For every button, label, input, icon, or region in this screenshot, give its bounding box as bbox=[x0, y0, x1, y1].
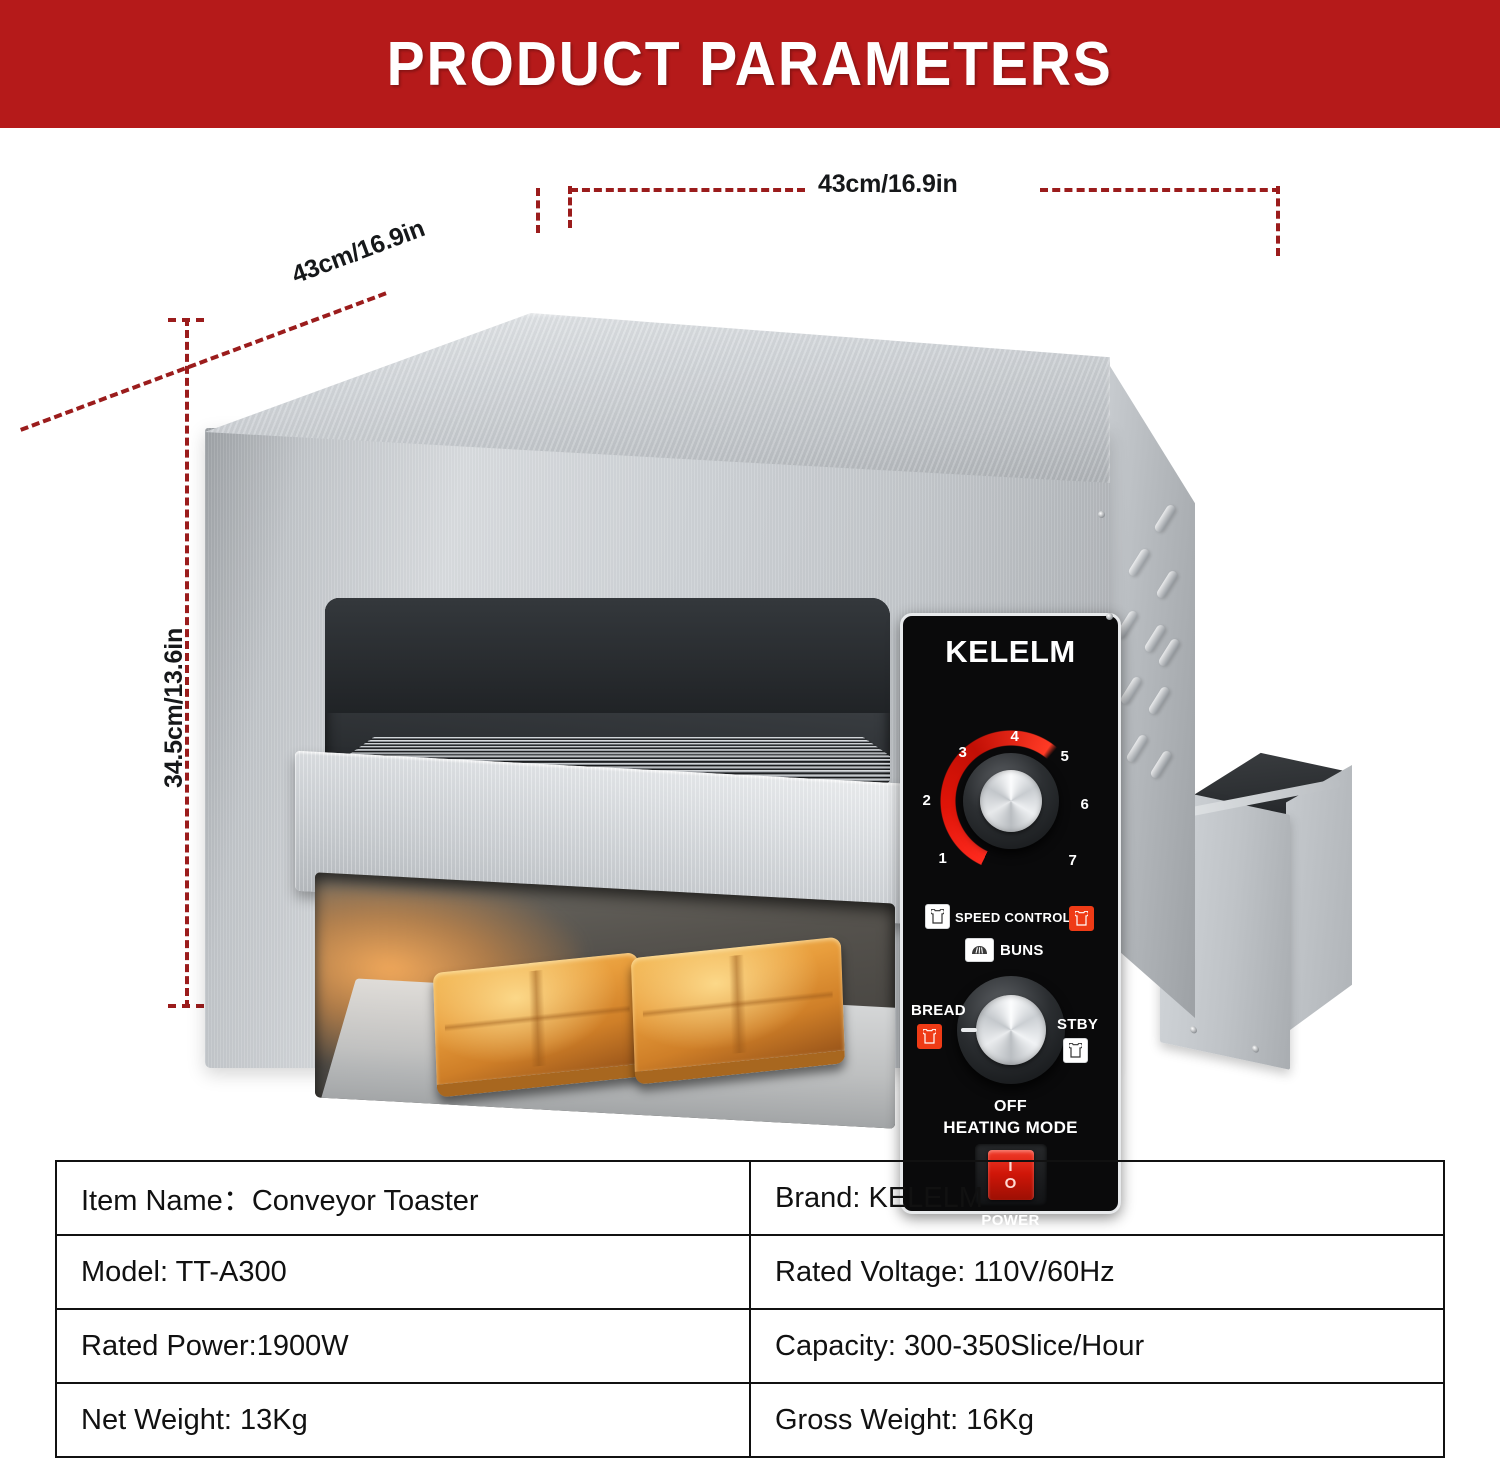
heating-mode-pointer bbox=[961, 1028, 977, 1032]
heating-mode-knob-cap bbox=[976, 995, 1046, 1065]
bread-label: BREAD bbox=[911, 1002, 966, 1019]
heating-mode-dial[interactable] bbox=[921, 976, 1101, 1096]
dim-height-cap-bottom bbox=[168, 1004, 204, 1008]
conveyor-back-wall bbox=[325, 598, 890, 713]
toast-slice bbox=[631, 937, 845, 1085]
screw bbox=[1190, 1026, 1197, 1034]
dim-height-cap-top bbox=[168, 318, 204, 322]
dim-depth-label: 43cm/16.9in bbox=[288, 214, 429, 290]
control-panel: KELELM 1 2 3 4 5 6 7 SPEED CONTROL bbox=[900, 613, 1121, 1214]
speed-tick-7: 7 bbox=[1069, 852, 1077, 869]
page-title: PRODUCT PARAMETERS bbox=[387, 29, 1113, 100]
bread-slice-icon bbox=[917, 1024, 942, 1049]
speed-tick-1: 1 bbox=[939, 850, 947, 867]
buns-label: BUNS bbox=[1000, 942, 1044, 959]
catch-tray-side bbox=[1286, 765, 1352, 1033]
dim-width-label: 43cm/16.9in bbox=[818, 170, 958, 199]
heating-mode-knob[interactable] bbox=[957, 976, 1065, 1084]
mode-off-label: OFF bbox=[903, 1098, 1118, 1116]
speed-tick-3: 3 bbox=[959, 744, 967, 761]
conveyor-opening bbox=[325, 598, 890, 783]
spec-brand: Brand: KELELM bbox=[750, 1161, 1444, 1235]
speed-control-dial[interactable]: 1 2 3 4 5 6 7 bbox=[921, 728, 1101, 908]
toast-output-chamber bbox=[315, 872, 895, 1128]
table-row: Net Weight: 13Kg Gross Weight: 16Kg bbox=[56, 1383, 1444, 1457]
speed-knob[interactable] bbox=[963, 753, 1059, 849]
table-row: Rated Power:1900W Capacity: 300-350Slice… bbox=[56, 1309, 1444, 1383]
table-row: Item Name：Conveyor Toaster Brand: KELELM bbox=[56, 1161, 1444, 1235]
conveyor-toaster-unit: KELELM 1 2 3 4 5 6 7 SPEED CONTROL bbox=[205, 313, 1165, 1073]
dark-toast-icon bbox=[1069, 906, 1094, 931]
speed-tick-2: 2 bbox=[923, 792, 931, 809]
heating-mode-label: HEATING MODE bbox=[903, 1118, 1118, 1138]
dim-width-line-left bbox=[570, 188, 805, 192]
spec-capacity: Capacity: 300-350Slice/Hour bbox=[750, 1309, 1444, 1383]
speed-control-label: SPEED CONTROL bbox=[955, 910, 1071, 925]
table-row: Model: TT-A300 Rated Voltage: 110V/60Hz bbox=[56, 1235, 1444, 1309]
speed-knob-cap bbox=[980, 770, 1042, 832]
dim-depth-tick bbox=[536, 188, 540, 233]
toast-slice bbox=[433, 952, 642, 1098]
stby-label: STBY bbox=[1057, 1016, 1098, 1033]
spec-model: Model: TT-A300 bbox=[56, 1235, 750, 1309]
screw bbox=[1098, 511, 1105, 518]
page-header: PRODUCT PARAMETERS bbox=[0, 0, 1500, 128]
standby-toast-icon bbox=[1063, 1038, 1088, 1063]
light-toast-icon bbox=[925, 904, 950, 929]
ventilation-louvers bbox=[1110, 508, 1190, 838]
spec-net-weight: Net Weight: 13Kg bbox=[56, 1383, 750, 1457]
dim-width-tick-right bbox=[1276, 186, 1280, 256]
spec-gross-weight: Gross Weight: 16Kg bbox=[750, 1383, 1444, 1457]
dim-width-line-right bbox=[1040, 188, 1280, 192]
product-image: 43cm/16.9in 43cm/16.9in 34.5cm/13.6in 26… bbox=[0, 128, 1500, 1153]
specification-table: Item Name：Conveyor Toaster Brand: KELELM… bbox=[55, 1160, 1445, 1458]
brand-logo: KELELM bbox=[903, 634, 1118, 670]
dim-height-label: 34.5cm/13.6in bbox=[160, 628, 189, 788]
spec-item-name: Item Name：Conveyor Toaster bbox=[56, 1161, 750, 1235]
screw bbox=[1106, 613, 1113, 620]
buns-icon bbox=[965, 938, 994, 962]
screw bbox=[1252, 1045, 1259, 1053]
spec-voltage: Rated Voltage: 110V/60Hz bbox=[750, 1235, 1444, 1309]
spec-power: Rated Power:1900W bbox=[56, 1309, 750, 1383]
dim-width-tick-left bbox=[568, 186, 572, 228]
speed-tick-6: 6 bbox=[1081, 796, 1089, 813]
speed-tick-4: 4 bbox=[1011, 728, 1019, 745]
speed-tick-5: 5 bbox=[1061, 748, 1069, 765]
